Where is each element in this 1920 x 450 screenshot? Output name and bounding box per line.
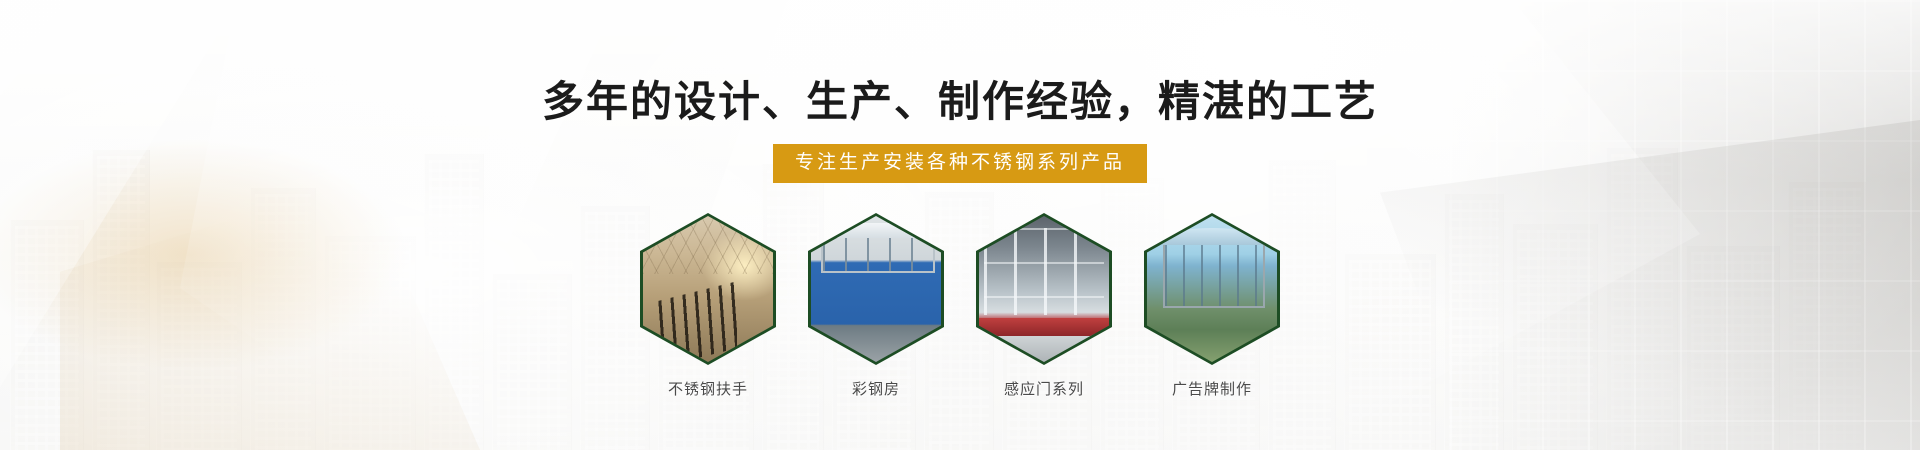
banner-subtitle-badge: 专注生产安装各种不锈钢系列产品 <box>773 144 1147 183</box>
color-steel-cabin-photo <box>811 216 941 362</box>
product-tile[interactable]: 彩钢房 <box>806 213 946 399</box>
hexagon-thumbnail[interactable] <box>1144 213 1280 365</box>
banner-headline: 多年的设计、生产、制作经验，精湛的工艺 <box>542 78 1378 126</box>
hexagon-image-clip <box>811 216 941 362</box>
promo-banner: 多年的设计、生产、制作经验，精湛的工艺 专注生产安装各种不锈钢系列产品 不锈钢扶… <box>0 0 1920 450</box>
product-tile-caption: 广告牌制作 <box>1172 378 1252 399</box>
product-tile-list: 不锈钢扶手 彩钢房 感应门系列 <box>638 213 1282 399</box>
billboard-signage-photo <box>1147 216 1277 362</box>
hexagon-thumbnail[interactable] <box>808 213 944 365</box>
hexagon-thumbnail[interactable] <box>976 213 1112 365</box>
automatic-sensor-door-photo <box>979 216 1109 362</box>
hexagon-image-clip <box>643 216 773 362</box>
hexagon-image-clip <box>979 216 1109 362</box>
banner-content: 多年的设计、生产、制作经验，精湛的工艺 专注生产安装各种不锈钢系列产品 不锈钢扶… <box>0 0 1920 450</box>
stainless-steel-handrail-photo <box>643 216 773 362</box>
product-tile[interactable]: 广告牌制作 <box>1142 213 1282 399</box>
hexagon-thumbnail[interactable] <box>640 213 776 365</box>
product-tile-caption: 不锈钢扶手 <box>668 378 748 399</box>
product-tile[interactable]: 不锈钢扶手 <box>638 213 778 399</box>
product-tile-caption: 感应门系列 <box>1004 378 1084 399</box>
product-tile[interactable]: 感应门系列 <box>974 213 1114 399</box>
hexagon-image-clip <box>1147 216 1277 362</box>
product-tile-caption: 彩钢房 <box>852 378 900 399</box>
